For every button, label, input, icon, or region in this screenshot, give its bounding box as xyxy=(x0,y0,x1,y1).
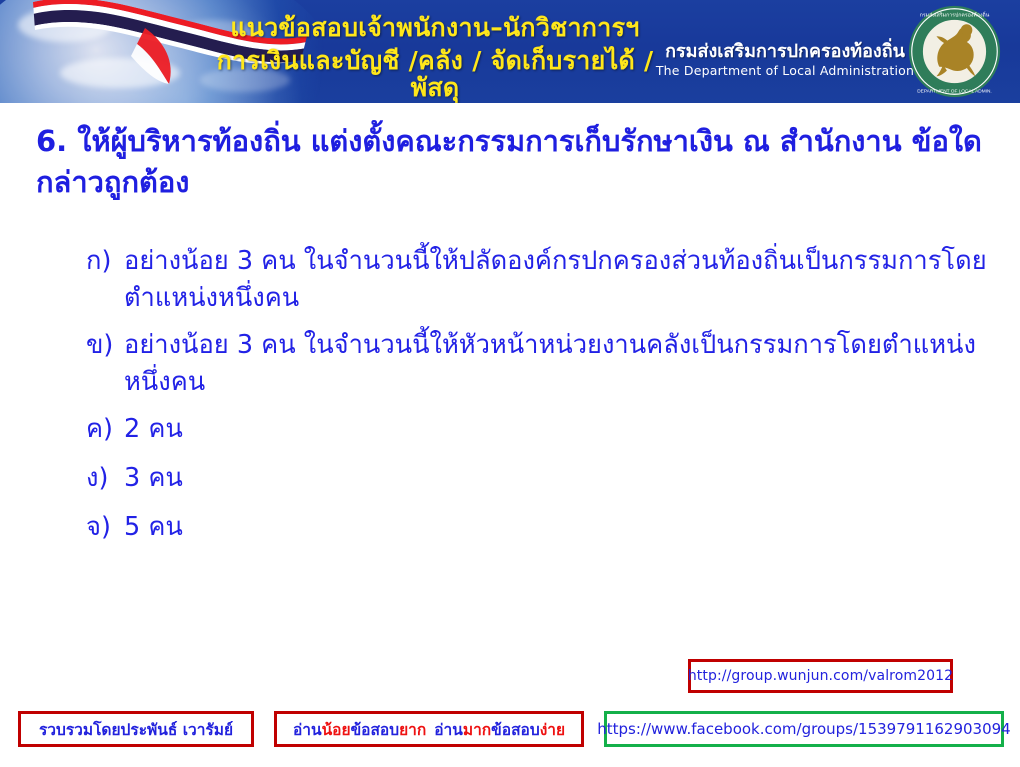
department-name-thai: กรมส่งเสริมการปกครองท้องถิ่น xyxy=(655,42,915,62)
department-name: กรมส่งเสริมการปกครองท้องถิ่น The Departm… xyxy=(655,42,915,78)
header-banner: แนวข้อสอบเจ้าพนักงาน–นักวิชาการฯ การเงิน… xyxy=(0,0,1020,103)
svg-text:กรมส่งเสริมการปกครองท้องถิ่น: กรมส่งเสริมการปกครองท้องถิ่น xyxy=(920,10,990,18)
slogan-segment-8: ง่าย xyxy=(540,717,565,742)
answer-option-kho[interactable]: ข) อย่างน้อย 3 คน ในจำนวนนี้ให้หัวหน้าหน… xyxy=(86,327,1016,401)
slogan-segment-2: น้อย xyxy=(322,717,351,742)
website-url-text: http://group.wunjun.com/valrom2012 xyxy=(688,668,953,684)
department-name-english: The Department of Local Administration xyxy=(655,64,915,78)
department-emblem-icon: กรมส่งเสริมการปกครองท้องถิ่น DEPARTMENT … xyxy=(907,4,1002,99)
option-text: 2 คน xyxy=(124,411,1016,448)
option-text: อย่างน้อย 3 คน ในจำนวนนี้ให้หัวหน้าหน่วย… xyxy=(124,327,1016,401)
question-text: 6. ให้ผู้บริหารท้องถิ่น แต่งตั้งคณะกรรมก… xyxy=(36,121,996,203)
banner-title-line1: แนวข้อสอบเจ้าพนักงาน–นักวิชาการฯ xyxy=(195,14,675,41)
website-url-box[interactable]: http://group.wunjun.com/valrom2012 xyxy=(688,659,953,693)
facebook-url-text: https://www.facebook.com/groups/15397911… xyxy=(597,720,1010,738)
option-label: จ) xyxy=(86,509,124,546)
slogan-segment-1: อ่าน xyxy=(293,717,322,742)
slogan-segment-6: มาก xyxy=(463,717,491,742)
option-label: ค) xyxy=(86,411,124,448)
answer-option-kho-khwai[interactable]: ค) 2 คน xyxy=(86,411,1016,448)
answer-option-ka[interactable]: ก) อย่างน้อย 3 คน ในจำนวนนี้ให้ปลัดองค์ก… xyxy=(86,243,1016,317)
credit-text: รวบรวมโดยประพันธ์ เวารัมย์ xyxy=(39,717,233,742)
banner-title: แนวข้อสอบเจ้าพนักงาน–นักวิชาการฯ การเงิน… xyxy=(195,14,675,101)
option-label: ง) xyxy=(86,460,124,497)
option-text: อย่างน้อย 3 คน ในจำนวนนี้ให้ปลัดองค์กรปก… xyxy=(124,243,1016,317)
slide-content: 6. ให้ผู้บริหารท้องถิ่น แต่งตั้งคณะกรรมก… xyxy=(0,103,1020,663)
answer-option-ngo[interactable]: ง) 3 คน xyxy=(86,460,1016,497)
slogan-segment-3: ข้อสอบ xyxy=(351,717,400,742)
slogan-segment-5: อ่าน xyxy=(434,717,463,742)
facebook-url-box[interactable]: https://www.facebook.com/groups/15397911… xyxy=(604,711,1004,747)
option-text: 5 คน xyxy=(124,509,1016,546)
banner-title-line2: การเงินและบัญชี /คลัง / จัดเก็บรายได้ / … xyxy=(195,47,675,101)
svg-text:DEPARTMENT OF LOCAL ADMIN.: DEPARTMENT OF LOCAL ADMIN. xyxy=(917,88,992,94)
slogan-segment-7: ข้อสอบ xyxy=(491,717,540,742)
option-label: ก) xyxy=(86,243,124,317)
option-label: ข) xyxy=(86,327,124,401)
slogan-segment-4: ยาก xyxy=(399,717,426,742)
slogan-box: อ่านน้อยข้อสอบยากอ่านมากข้อสอบง่าย xyxy=(274,711,584,747)
option-text: 3 คน xyxy=(124,460,1016,497)
answer-options-list: ก) อย่างน้อย 3 คน ในจำนวนนี้ให้ปลัดองค์ก… xyxy=(86,243,1016,558)
answer-option-cho[interactable]: จ) 5 คน xyxy=(86,509,1016,546)
credit-box: รวบรวมโดยประพันธ์ เวารัมย์ xyxy=(18,711,254,747)
